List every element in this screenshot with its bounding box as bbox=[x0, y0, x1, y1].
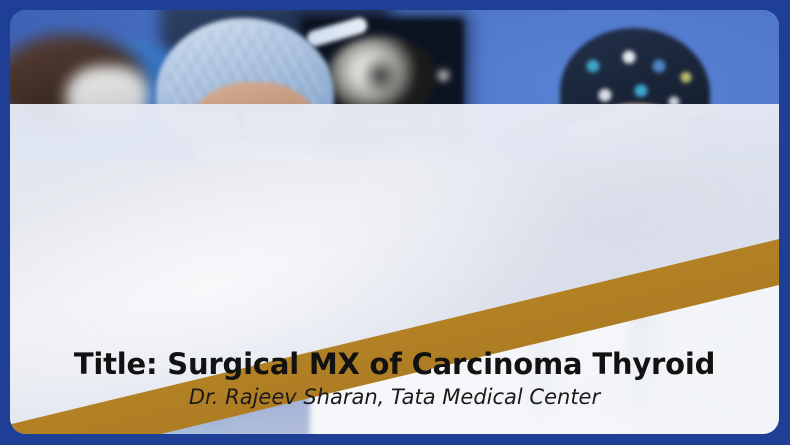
scan-marker-icon bbox=[438, 70, 449, 81]
caption-text-block: Title: Surgical MX of Carcinoma Thyroid … bbox=[10, 348, 779, 410]
page-title: Title: Surgical MX of Carcinoma Thyroid bbox=[10, 348, 779, 380]
presenter-credit: Dr. Rajeev Sharan, Tata Medical Center bbox=[10, 385, 779, 410]
surgeon-cap-tie bbox=[305, 16, 369, 48]
banner-frame: Title: Surgical MX of Carcinoma Thyroid … bbox=[0, 0, 790, 445]
banner-canvas: Title: Surgical MX of Carcinoma Thyroid … bbox=[10, 10, 779, 434]
